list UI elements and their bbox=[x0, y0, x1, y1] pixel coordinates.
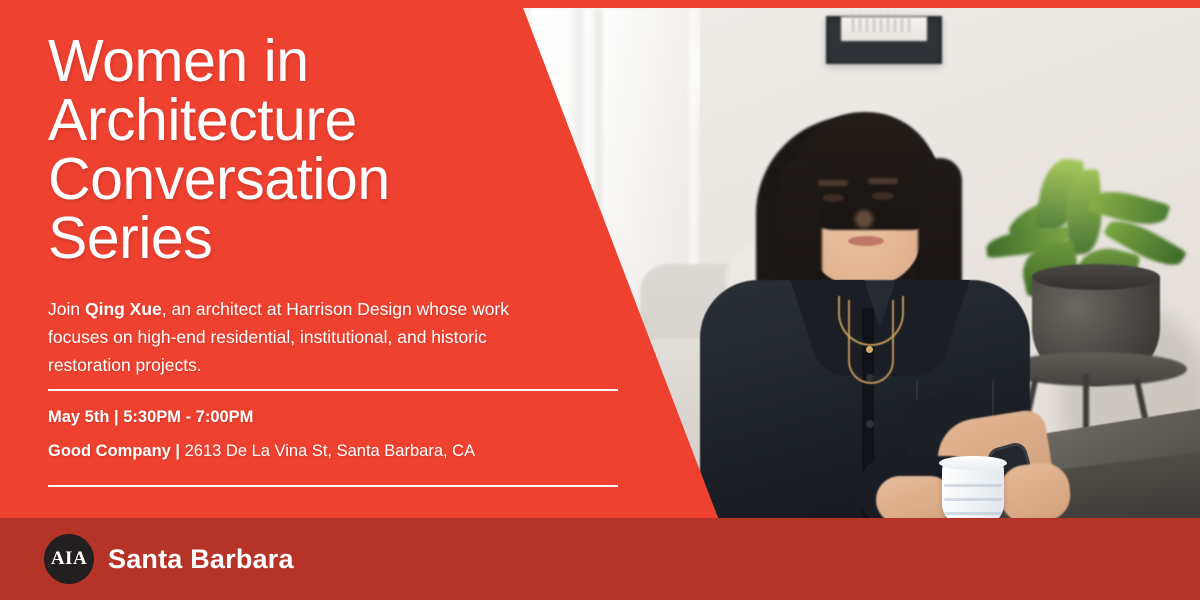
event-datetime: May 5th | 5:30PM - 7:00PM bbox=[48, 405, 608, 429]
eye-left bbox=[822, 194, 844, 202]
divider-top bbox=[48, 389, 618, 391]
venue-address: 2613 De La Vina St, Santa Barbara, CA bbox=[180, 442, 475, 460]
mouth bbox=[848, 236, 884, 246]
speaker-name: Qing Xue bbox=[85, 299, 162, 319]
description: Join Qing Xue, an architect at Harrison … bbox=[48, 295, 568, 379]
page-title: Women in Architecture Conversation Serie… bbox=[48, 32, 568, 268]
title-line-4: Series bbox=[48, 209, 568, 268]
necklace-pendant bbox=[866, 346, 873, 353]
aia-logo-text: AIA bbox=[51, 548, 87, 570]
eyebrow-right bbox=[868, 178, 898, 184]
title-line-2: Architecture bbox=[48, 91, 568, 150]
footer-bar: AIA Santa Barbara bbox=[0, 518, 1200, 600]
cup-ridge bbox=[944, 498, 1002, 501]
aia-logo-lockup: AIA Santa Barbara bbox=[44, 534, 294, 584]
eyebrow-left bbox=[818, 180, 848, 186]
aia-logo-icon: AIA bbox=[44, 534, 94, 584]
title-line-3: Conversation bbox=[48, 150, 568, 209]
event-datetime-text: May 5th | 5:30PM - 7:00PM bbox=[48, 408, 253, 426]
cup-ridge bbox=[944, 512, 1002, 515]
eye-right bbox=[872, 192, 894, 200]
chapter-name: Santa Barbara bbox=[108, 544, 294, 575]
coffee-cup bbox=[942, 460, 1004, 518]
event-flyer: Women in Architecture Conversation Serie… bbox=[0, 0, 1200, 600]
cup-ridge bbox=[944, 484, 1002, 487]
nose bbox=[855, 210, 873, 228]
event-venue: Good Company | 2613 De La Vina St, Santa… bbox=[48, 439, 608, 463]
divider-bottom bbox=[48, 485, 618, 487]
framed-picture-art bbox=[852, 14, 910, 32]
title-line-1: Women in bbox=[48, 32, 568, 91]
flyer-content: Women in Architecture Conversation Serie… bbox=[48, 0, 628, 518]
necklace-long bbox=[848, 300, 894, 384]
event-details: May 5th | 5:30PM - 7:00PM Good Company |… bbox=[48, 405, 608, 473]
shirt-button bbox=[866, 420, 874, 428]
description-prefix: Join bbox=[48, 299, 85, 319]
venue-name: Good Company | bbox=[48, 442, 180, 460]
